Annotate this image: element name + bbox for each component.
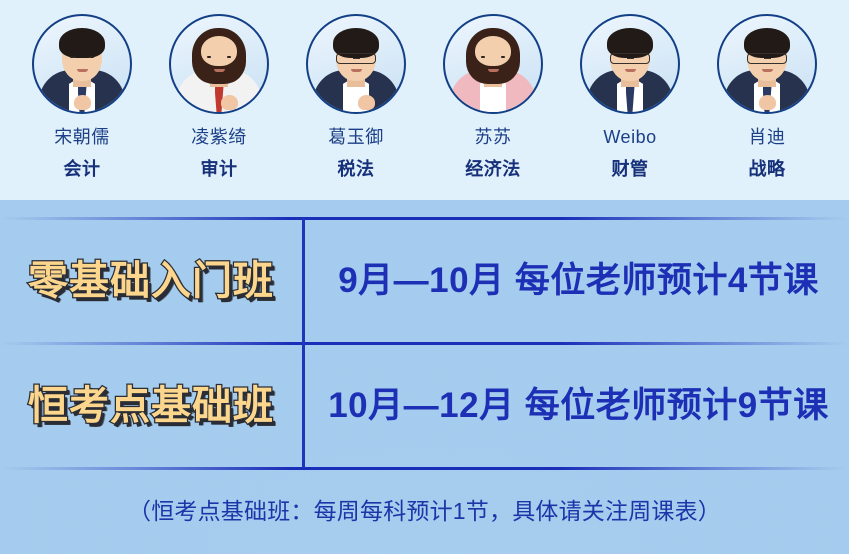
teacher-card[interactable]: Weibo 财管 [566,0,694,200]
teacher-subject: 会计 [64,160,101,178]
footnote: （恒考点基础班：每周每科预计1节，具体请关注周课表） [0,492,849,526]
teacher-portrait-icon [171,16,267,112]
course-detail-label: 9月—10月 每位老师预计4节课 [338,263,819,298]
teacher-card[interactable]: 葛玉御 税法 [292,0,420,200]
teacher-subject: 审计 [201,160,238,178]
schedule-table: 零基础入门班 9月—10月 每位老师预计4节课 恒考点基础班 10月—12月 每… [0,212,849,470]
course-detail-label: 10月—12月 每位老师预计9节课 [328,388,829,423]
teacher-portrait-icon [308,16,404,112]
avatar [32,14,132,114]
avatar [580,14,680,114]
teacher-name: 凌紫绮 [191,128,247,146]
avatar [443,14,543,114]
table-row: 零基础入门班 9月—10月 每位老师预计4节课 [0,218,849,343]
table-row: 恒考点基础班 10月—12月 每位老师预计9节课 [0,343,849,468]
teacher-subject: 经济法 [465,160,521,178]
course-detail-cell: 9月—10月 每位老师预计4节课 [302,263,849,298]
teacher-name: 宋朝儒 [54,128,110,146]
teacher-card[interactable]: 凌紫绮 审计 [155,0,283,200]
avatar [717,14,817,114]
teacher-card[interactable]: 肖迪 战略 [703,0,831,200]
teacher-subject: 财管 [612,160,649,178]
course-detail-cell: 10月—12月 每位老师预计9节课 [302,388,849,423]
teacher-portrait-icon [582,16,678,112]
avatar [306,14,406,114]
teacher-subject: 税法 [338,160,375,178]
teacher-portrait-icon [445,16,541,112]
teacher-portrait-icon [719,16,815,112]
teacher-name: Weibo [603,128,656,146]
teacher-subject: 战略 [749,160,786,178]
teacher-list: 宋朝儒 会计 凌紫绮 审计 [0,0,849,200]
teacher-name: 苏苏 [475,128,512,146]
avatar [169,14,269,114]
teacher-name: 肖迪 [749,128,786,146]
teacher-portrait-icon [34,16,130,112]
teacher-card[interactable]: 苏苏 经济法 [429,0,557,200]
course-name-cell: 恒考点基础班 [0,386,302,426]
teacher-name: 葛玉御 [328,128,384,146]
course-name-label: 恒考点基础班 [28,386,274,426]
teacher-card[interactable]: 宋朝儒 会计 [18,0,146,200]
course-name-label: 零基础入门班 [28,261,274,301]
course-name-cell: 零基础入门班 [0,261,302,301]
course-schedule-poster: 宋朝儒 会计 凌紫绮 审计 [0,0,849,554]
